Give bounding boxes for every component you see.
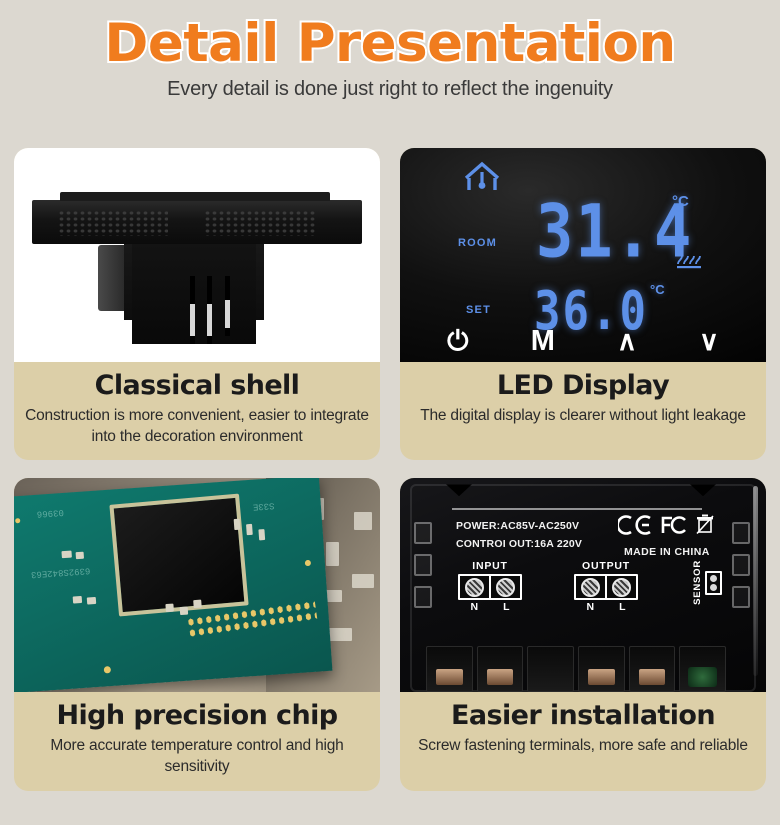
sensor-terminal-box[interactable] [705, 571, 722, 595]
panel-hairline [452, 508, 702, 510]
room-label: ROOM [458, 237, 497, 249]
output-screw-l[interactable] [605, 576, 636, 598]
panel-tab-left-3 [414, 586, 432, 608]
set-temperature-unit: °C [650, 282, 665, 297]
shell-top-lip [60, 192, 330, 201]
panel-tab-left-2 [414, 554, 432, 576]
installation-caption: Easier installation Screw fastening term… [400, 692, 766, 770]
input-terminal-group: INPUT N L [458, 560, 522, 613]
chip-caption: High precision chip More accurate temper… [14, 692, 380, 790]
control-spec-label: CONTROI OUT:16A 220V [456, 538, 582, 550]
room-temperature-value: 31.4 [536, 188, 693, 274]
card-description: Screw fastening terminals, more safe and… [408, 736, 758, 757]
panel-tab-right-1 [732, 522, 750, 544]
chip-die [109, 494, 248, 617]
feature-card-high-precision-chip: 03966 6392S842E63 S33E [14, 478, 380, 790]
terminal-slot-6 [679, 646, 726, 692]
output-terminal-box [574, 574, 638, 600]
card-description: Construction is more convenient, easier … [22, 406, 372, 447]
panel-tab-right-3 [732, 586, 750, 608]
input-label: INPUT [458, 560, 522, 572]
terminal-slot-5 [629, 646, 676, 692]
fcc-mark-icon [661, 515, 687, 535]
page-header: Detail Presentation Every detail is done… [0, 0, 780, 101]
detail-presentation-page: Detail Presentation Every detail is done… [0, 0, 780, 825]
chip-photo: 03966 6392S842E63 S33E [14, 478, 380, 692]
mode-button[interactable]: M [531, 327, 555, 356]
input-terminal-l: L [503, 601, 509, 613]
certification-marks [618, 514, 714, 535]
shell-pin-2 [207, 304, 212, 336]
output-screw-n[interactable] [576, 576, 605, 598]
led-display-photo: ROOM 31.4 °C SET 36.0 °C ⏻ M ∧ ∨ [400, 148, 766, 362]
output-label: OUTPUT [574, 560, 638, 572]
classical-shell-caption: Classical shell Construction is more con… [14, 362, 380, 460]
panel-tab-left-1 [414, 522, 432, 544]
power-spec-label: POWER:AC85V-AC250V [456, 520, 579, 532]
feature-card-classical-shell: Classical shell Construction is more con… [14, 148, 380, 460]
output-terminal-l: L [619, 601, 625, 613]
page-subtitle: Every detail is done just right to refle… [0, 78, 780, 101]
input-terminal-n: N [470, 601, 478, 613]
led-button-bar: ⏻ M ∧ ∨ [400, 327, 766, 356]
card-description: The digital display is clearer without l… [408, 406, 758, 427]
ce-mark-icon [618, 515, 652, 535]
terminal-slot-2 [477, 646, 524, 692]
weee-bin-icon [696, 514, 714, 535]
led-display-caption: LED Display The digital display is clear… [400, 362, 766, 440]
back-panel-photo: POWER:AC85V-AC250V CONTROI OUT:16A 220V [400, 478, 766, 692]
card-title: LED Display [408, 370, 758, 401]
feature-card-led-display: ROOM 31.4 °C SET 36.0 °C ⏻ M ∧ ∨ [400, 148, 766, 460]
panel-edge-highlight [753, 486, 758, 676]
house-thermometer-icon [462, 160, 502, 199]
shell-pin-1 [190, 304, 195, 336]
terminal-screw-row [426, 646, 726, 692]
origin-label: MADE IN CHINA [624, 546, 710, 558]
down-button[interactable]: ∨ [699, 328, 719, 355]
card-title: Classical shell [22, 370, 372, 401]
power-button[interactable]: ⏻ [447, 328, 468, 355]
input-screw-l[interactable] [489, 576, 520, 598]
shell-vent-left [58, 210, 168, 236]
input-terminal-box [458, 574, 522, 600]
shell-vent-right [204, 210, 316, 236]
page-title: Detail Presentation [0, 16, 780, 72]
feature-card-easier-installation: POWER:AC85V-AC250V CONTROI OUT:16A 220V [400, 478, 766, 790]
shell-pin-3 [225, 300, 230, 328]
set-label: SET [466, 304, 491, 316]
heating-waves-icon [675, 252, 703, 275]
card-title: High precision chip [22, 700, 372, 731]
terminal-slot-3 [527, 646, 574, 692]
input-screw-n[interactable] [460, 576, 489, 598]
feature-card-grid: Classical shell Construction is more con… [14, 148, 766, 791]
card-description: More accurate temperature control and hi… [22, 736, 372, 777]
panel-tab-right-2 [732, 554, 750, 576]
sensor-label: SENSOR [692, 560, 703, 605]
up-button[interactable]: ∧ [617, 328, 637, 355]
classical-shell-photo [14, 148, 380, 362]
circuit-board: 03966 6392S842E63 S33E [14, 478, 332, 692]
output-terminal-group: OUTPUT N L [574, 560, 638, 613]
output-terminal-n: N [586, 601, 594, 613]
sensor-terminal-group: SENSOR [692, 560, 722, 605]
room-temperature-unit: °C [672, 193, 689, 210]
card-title: Easier installation [408, 700, 758, 731]
terminal-slot-1 [426, 646, 473, 692]
terminal-slot-4 [578, 646, 625, 692]
